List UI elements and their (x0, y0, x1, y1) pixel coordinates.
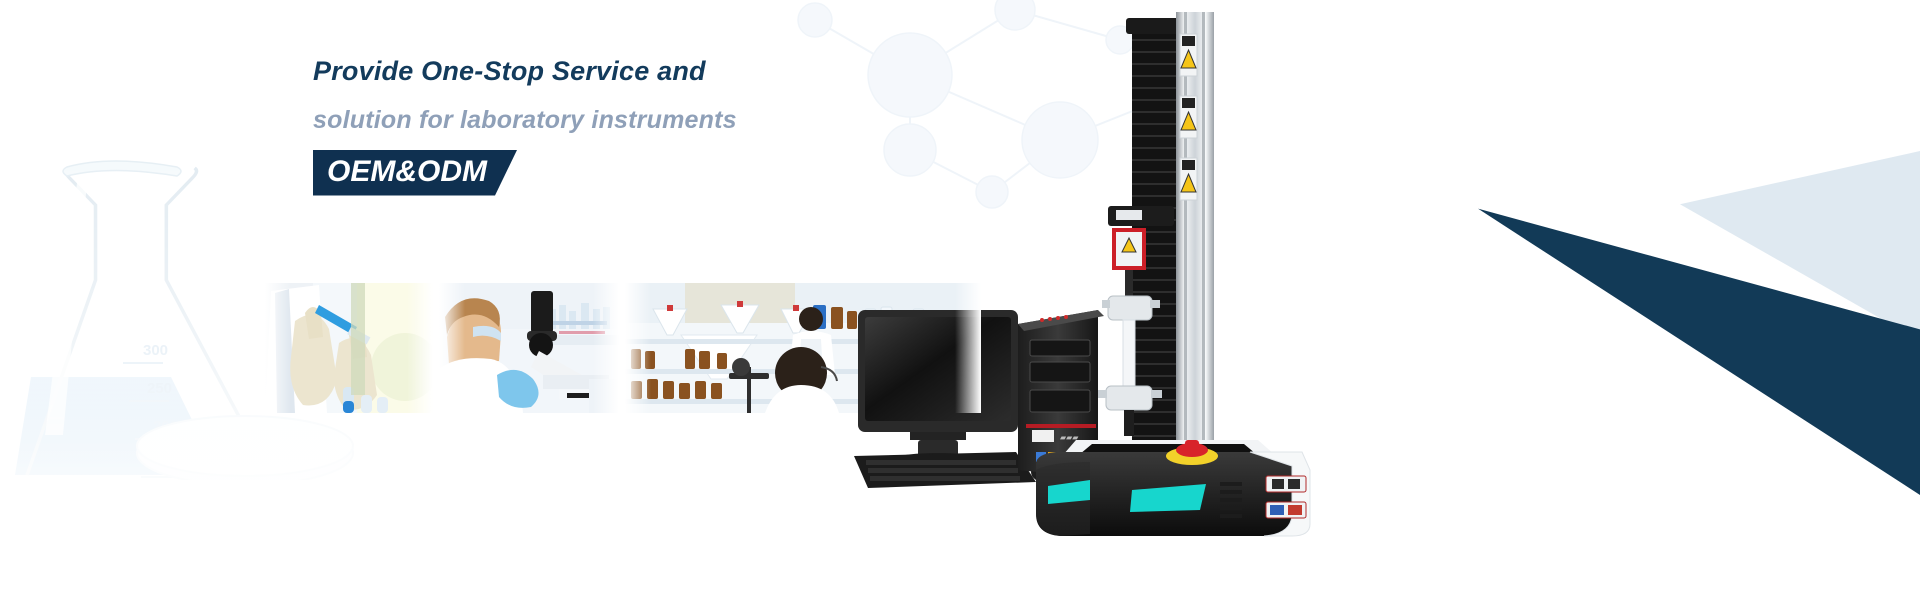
panel-fade-right (593, 283, 619, 413)
headline-block: Provide One-Stop Service and solution fo… (313, 55, 833, 196)
svg-text:200: 200 (153, 418, 178, 435)
photo-panel-lab-team (625, 283, 981, 413)
panel-fade-left (625, 283, 651, 413)
svg-text:150: 150 (159, 456, 184, 473)
tensile-tester-graphic (1036, 12, 1310, 536)
subheadline: solution for laboratory instruments (313, 105, 833, 136)
oem-odm-badge: OEM&ODM (313, 150, 517, 196)
panel-fade-right (955, 283, 981, 413)
svg-text:250: 250 (147, 380, 172, 397)
promo-banner: 300 250 200 150 Provide One-Stop Service… (0, 0, 1920, 597)
tower-graphic: ▰▰▰ (1018, 310, 1104, 478)
panel-fade-left (439, 283, 465, 413)
mouse-graphic (1031, 461, 1063, 483)
headline: Provide One-Stop Service and (313, 55, 833, 89)
svg-text:▰▰▰: ▰▰▰ (1060, 433, 1079, 442)
photo-panel-pipetting (265, 283, 433, 413)
photo-strip (265, 283, 993, 413)
photo-panel-microscope (439, 283, 619, 413)
panel-fade-left (265, 283, 291, 413)
svg-text:300: 300 (143, 342, 168, 359)
panel-fade-right (407, 283, 433, 413)
keyboard-graphic (854, 452, 1036, 488)
